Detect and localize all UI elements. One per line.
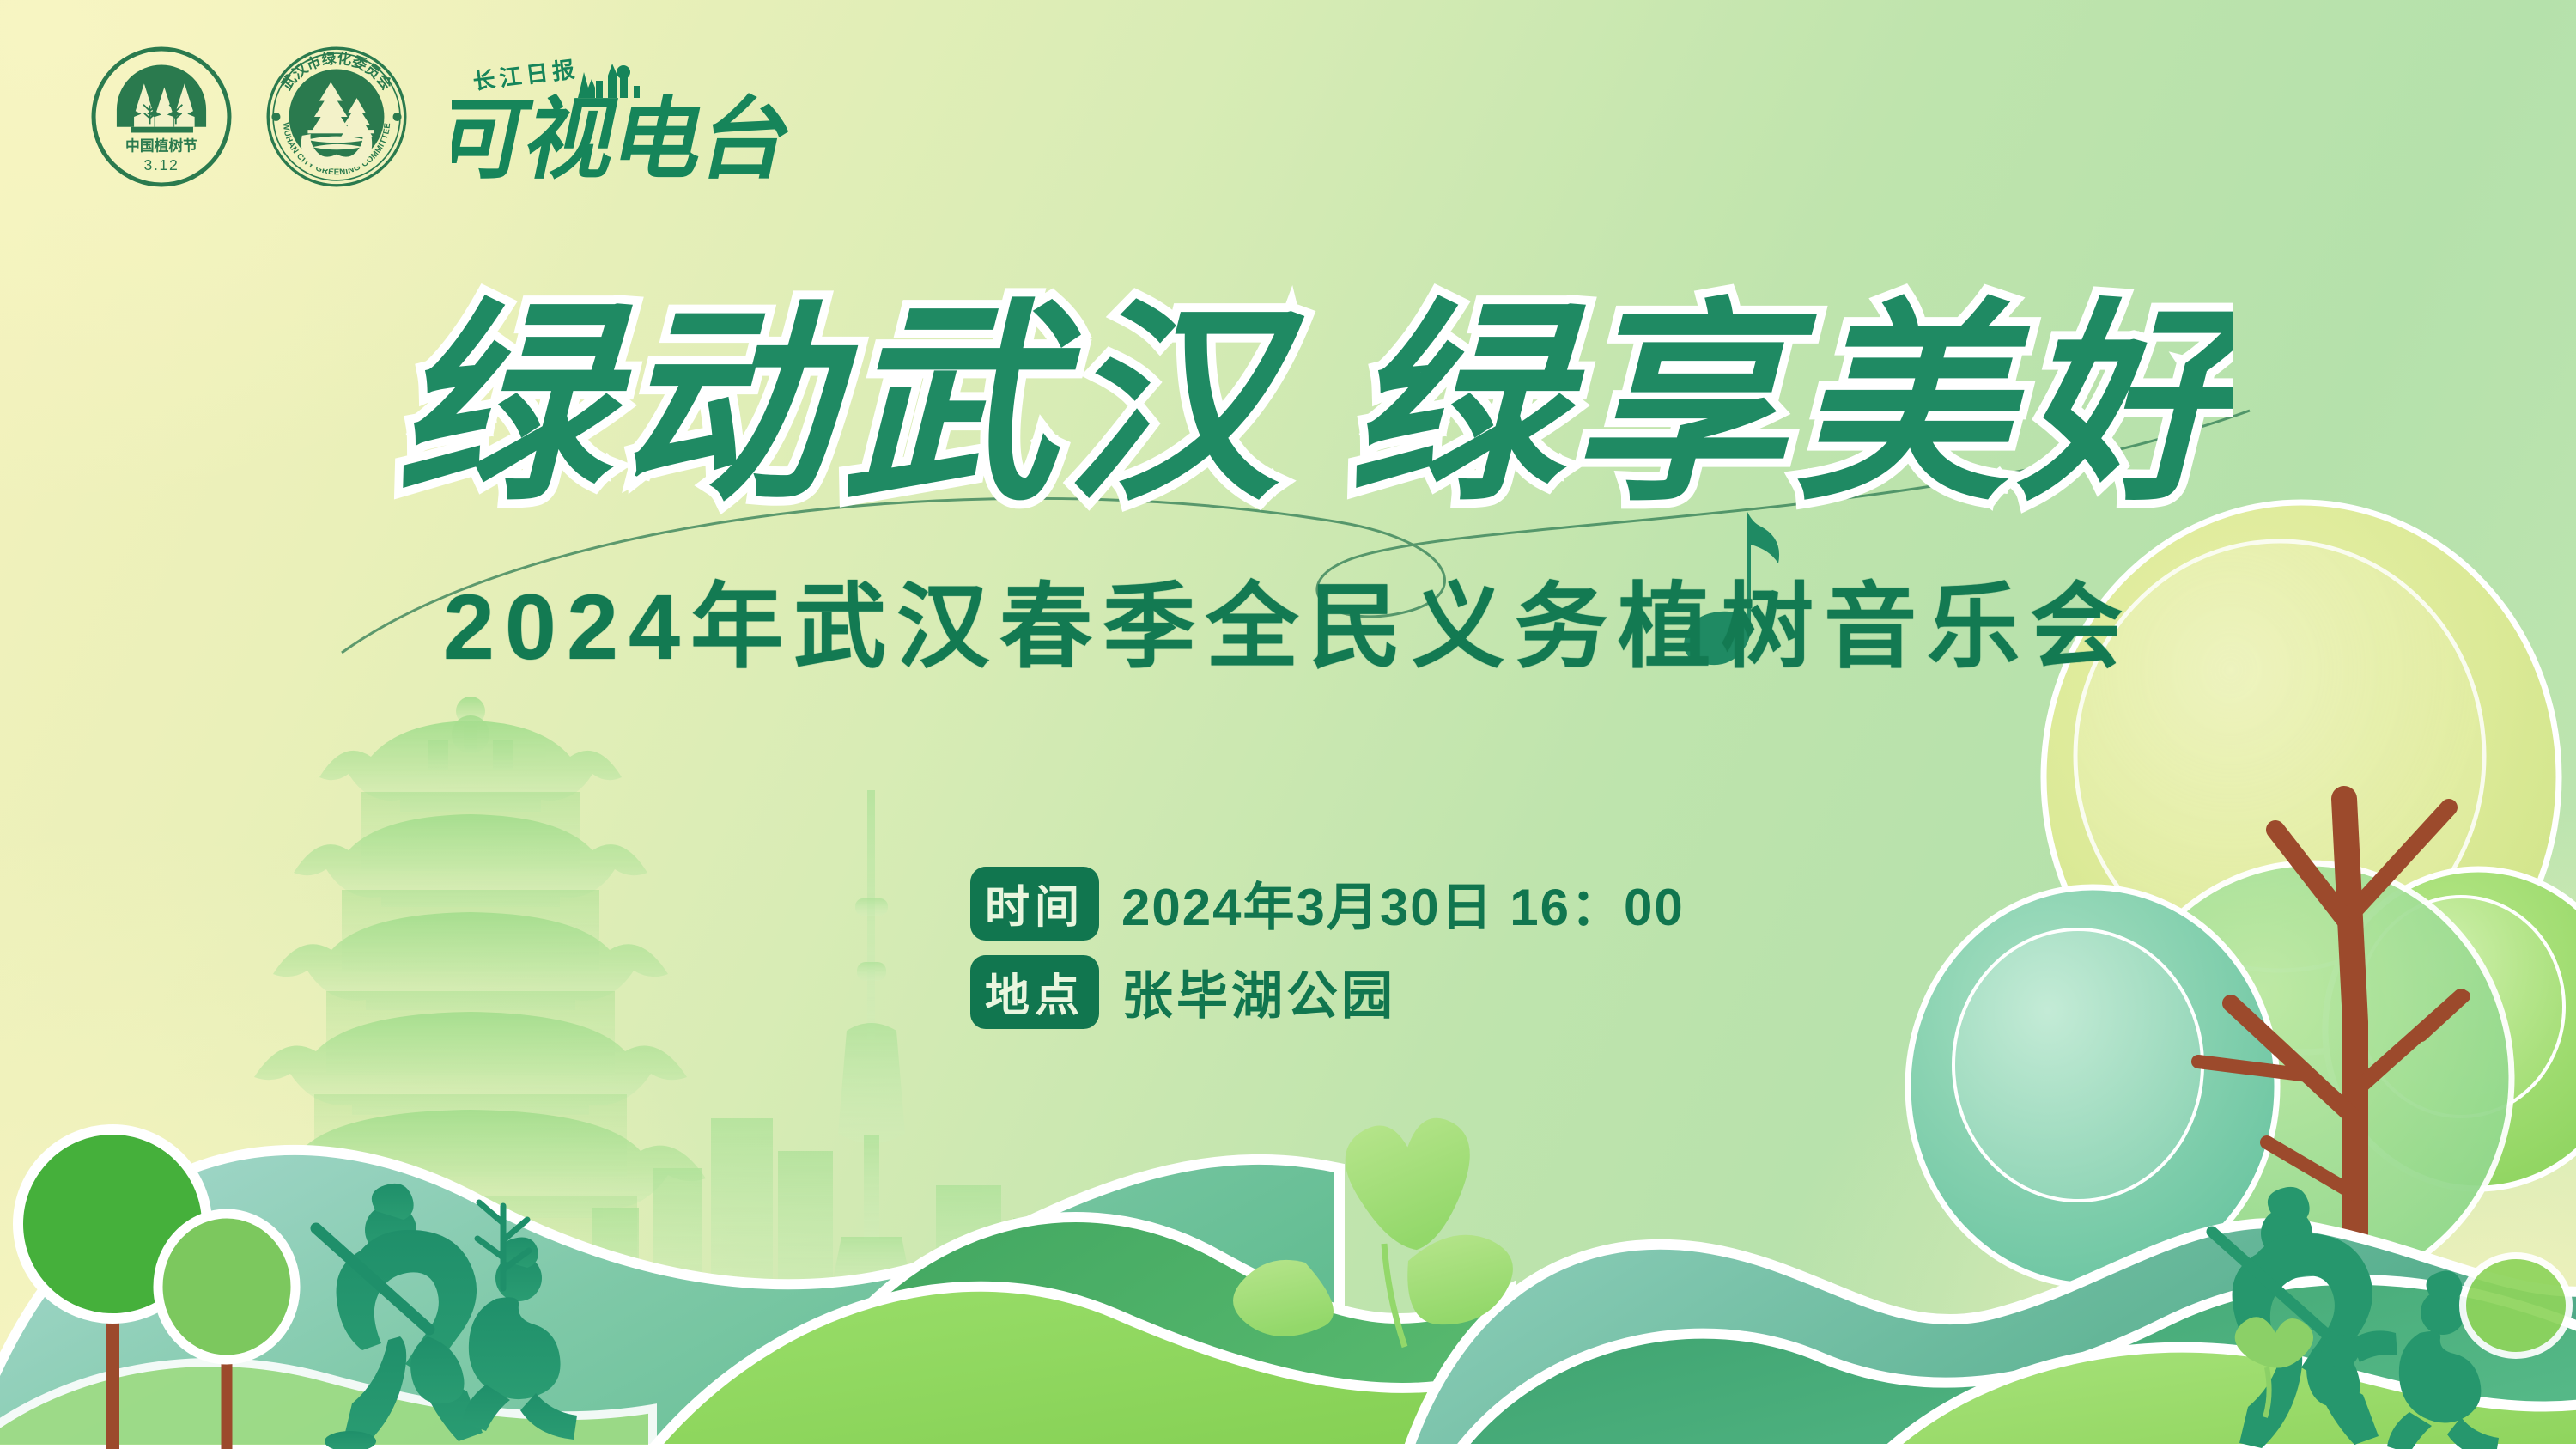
info-tag-location: 地点 [970, 955, 1099, 1029]
calligraphy-title: 绿动武汉 绿享美好 [343, 230, 2233, 574]
event-info-block: 时间 2024年3月30日 16：00 地点 张毕湖公园 [970, 866, 1685, 1043]
poster-canvas: 中国植树节 3.12 武汉市绿化委员会 WUHAN CITY GREENING … [0, 0, 2576, 1449]
svg-text:长江日报: 长江日报 [471, 56, 580, 94]
info-row-time: 时间 2024年3月30日 16：00 [970, 866, 1685, 941]
headline-line-1-stroke: 绿动武汉 [395, 289, 1306, 527]
svg-text:可视电台: 可视电台 [452, 90, 800, 190]
wuhan-greening-committee-emblem: 武汉市绿化委员会 WUHAN CITY GREENING COMMITTEE [264, 45, 409, 193]
info-tag-time: 时间 [970, 867, 1099, 941]
headline-block: 绿动武汉 绿享美好 [0, 230, 2576, 574]
changjiang-daily-visual-radio-logo: 长江日报 可视电台 [452, 50, 829, 200]
info-value-time: 2024年3月30日 16：00 [1121, 866, 1685, 941]
tv-tower-icon [831, 790, 912, 1288]
subtitle: 2024年武汉春季全民义务植树音乐会 [0, 581, 2576, 673]
logo-bar: 中国植树节 3.12 武汉市绿化委员会 WUHAN CITY GREENING … [89, 45, 829, 200]
background-illustration [0, 0, 2576, 1449]
info-value-location: 张毕湖公园 [1121, 954, 1396, 1029]
headline-line-2-stroke: 绿享美好 [1348, 289, 2233, 527]
info-row-location: 地点 张毕湖公园 [970, 954, 1685, 1029]
small-shrub-right [2463, 1256, 2569, 1355]
svg-text:3.12: 3.12 [143, 156, 179, 174]
svg-text:中国植树节: 中国植树节 [125, 137, 197, 154]
china-arbor-day-emblem: 中国植树节 3.12 [89, 45, 234, 193]
